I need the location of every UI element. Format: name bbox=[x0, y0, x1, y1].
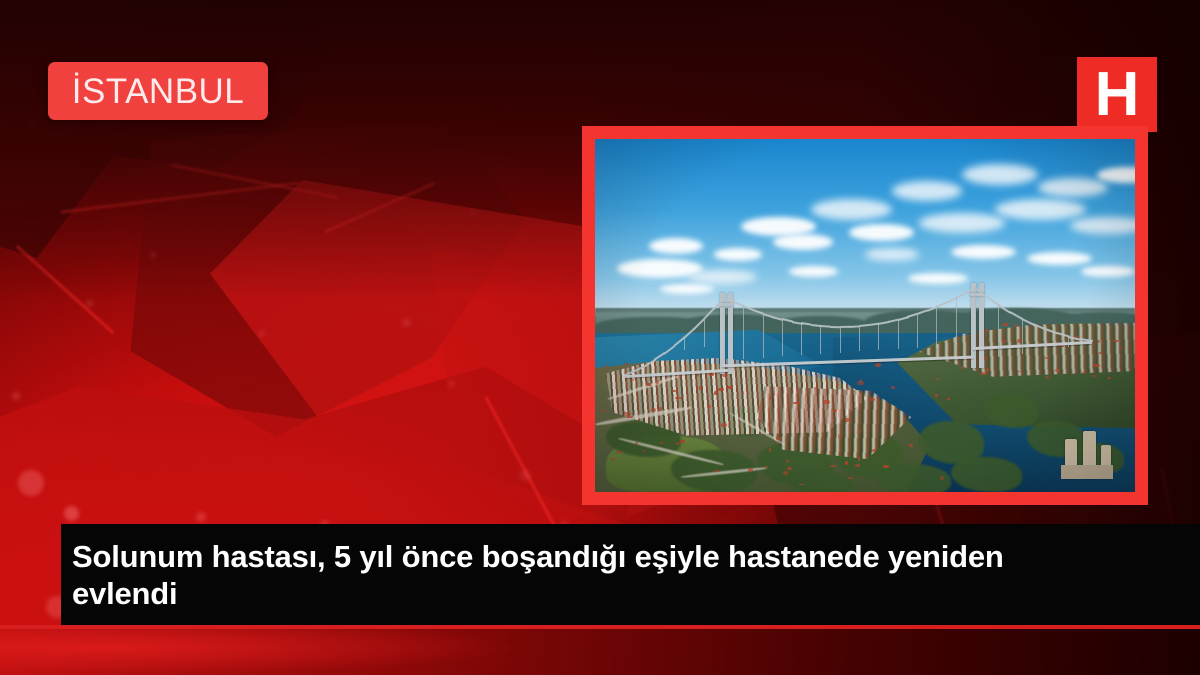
photo-vignette bbox=[595, 139, 1135, 492]
bottom-strip-glow bbox=[0, 629, 520, 675]
bokeh-dot bbox=[12, 392, 20, 400]
bokeh-dot bbox=[86, 300, 93, 307]
photo-frame bbox=[582, 126, 1148, 505]
bokeh-dot bbox=[402, 318, 411, 327]
bokeh-dot bbox=[196, 512, 206, 522]
bosphorus-photo bbox=[595, 139, 1135, 492]
bokeh-dot bbox=[258, 330, 265, 337]
haberler-h-logo[interactable]: H bbox=[1077, 57, 1157, 132]
location-badge[interactable]: İSTANBUL bbox=[48, 62, 268, 120]
bokeh-dot bbox=[448, 380, 455, 387]
bokeh-dot bbox=[18, 470, 44, 496]
haberler-h-logo-letter: H bbox=[1095, 64, 1140, 126]
bokeh-dot bbox=[520, 470, 531, 481]
news-card: İSTANBUL H bbox=[0, 0, 1200, 675]
headline: Solunum hastası, 5 yıl önce boşandığı eş… bbox=[61, 539, 1081, 612]
caption-bar: Solunum hastası, 5 yıl önce boşandığı eş… bbox=[61, 524, 1200, 627]
bokeh-dot bbox=[64, 506, 79, 521]
location-badge-label: İSTANBUL bbox=[72, 74, 245, 109]
